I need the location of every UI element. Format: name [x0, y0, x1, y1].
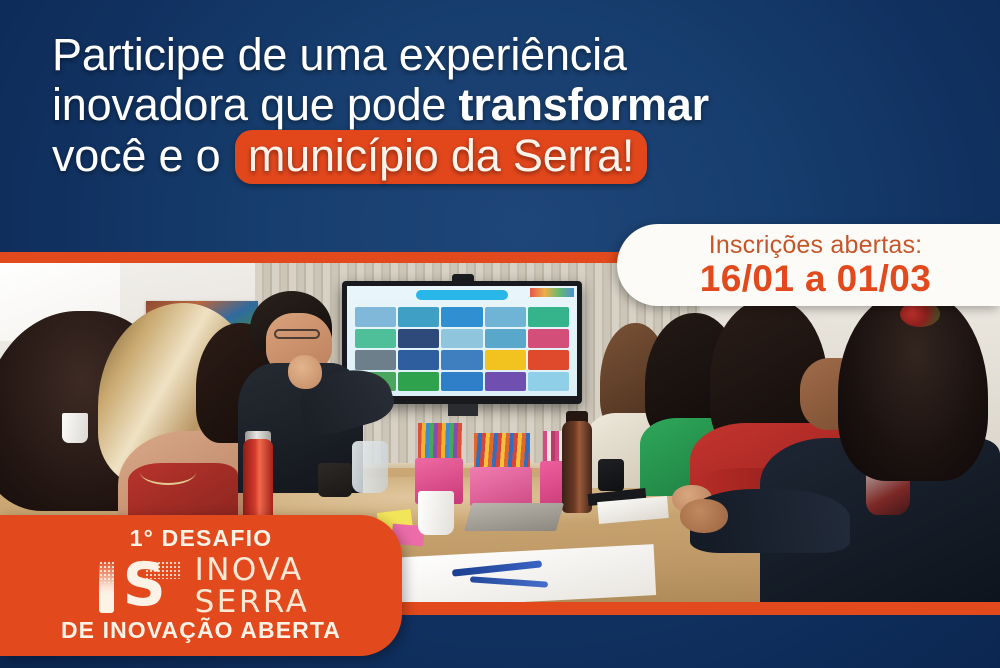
inova-serra-monogram-icon: S	[93, 559, 185, 615]
sponsor-logo	[398, 329, 439, 349]
speaker-device	[598, 459, 624, 491]
sponsor-logo	[528, 329, 569, 349]
sponsor-logo	[528, 350, 569, 370]
sponsor-logo	[398, 350, 439, 370]
promotional-banner: Participe de uma experiência inovadora q…	[0, 0, 1000, 668]
headline-line-3-plain: você e o	[52, 130, 233, 181]
sponsor-logo	[441, 307, 482, 327]
headline-line-2-bold: transformar	[459, 79, 709, 130]
logo-lockup: S INOVA SERRA	[0, 555, 402, 618]
person-r4-hand	[680, 499, 728, 533]
open-innovation-label: DE INOVAÇÃO ABERTA	[0, 617, 402, 644]
sponsor-logo	[355, 329, 396, 349]
challenge-ordinal-label: 1° DESAFIO	[0, 525, 402, 552]
presenter-glasses	[274, 329, 320, 339]
sponsor-logo	[441, 350, 482, 370]
water-jug	[352, 441, 388, 493]
dark-mug	[318, 463, 352, 497]
event-logo-panel: 1° DESAFIO S INOVA SERRA DE INOVAÇÃO ABE…	[0, 515, 402, 656]
sponsor-logo	[485, 329, 526, 349]
wordmark-line-2: SERRA	[195, 587, 310, 618]
red-water-bottle	[243, 439, 273, 523]
sponsor-logo	[485, 350, 526, 370]
sponsor-logo	[355, 350, 396, 370]
inova-serra-wordmark: INOVA SERRA	[195, 555, 310, 618]
registration-date-badge: Inscrições abertas: 16/01 a 01/03	[617, 224, 1000, 306]
headline: Participe de uma experiência inovadora q…	[52, 30, 952, 180]
sponsor-logo	[528, 372, 569, 392]
sponsor-logo	[485, 372, 526, 392]
laptop	[464, 503, 564, 531]
registration-label: Inscrições abertas:	[709, 232, 923, 259]
sponsor-logo	[485, 307, 526, 327]
necklace	[140, 459, 196, 485]
monogram-i-halftone	[99, 561, 114, 583]
colored-pencils-mid	[474, 433, 530, 471]
headline-line-1: Participe de uma experiência	[52, 30, 952, 80]
sponsor-logo	[528, 307, 569, 327]
presenter-hand	[288, 355, 322, 389]
sponsor-logo	[441, 372, 482, 392]
white-cup-back	[62, 413, 88, 443]
tv-screen-title-bar	[416, 290, 508, 300]
sponsor-logo-grid	[355, 307, 569, 391]
tv-stand	[448, 404, 478, 416]
headline-line-2-plain: inovadora que pode	[52, 79, 459, 130]
sponsor-logo	[398, 372, 439, 392]
sponsor-logo	[441, 329, 482, 349]
registration-dates: 16/01 a 01/03	[700, 259, 932, 298]
sponsor-logo	[398, 307, 439, 327]
headline-line-3: você e o município da Serra!	[52, 130, 952, 180]
tv-color-chip	[530, 288, 574, 297]
sponsor-logo	[355, 307, 396, 327]
wordmark-line-1: INOVA	[195, 555, 310, 586]
white-cup-front	[418, 491, 454, 535]
pink-pen-holder-mid	[470, 467, 532, 507]
monogram-s-halftone	[145, 561, 181, 579]
headline-highlight-pill: município da Serra!	[235, 130, 647, 184]
headline-line-2: inovadora que pode transformar	[52, 80, 952, 130]
